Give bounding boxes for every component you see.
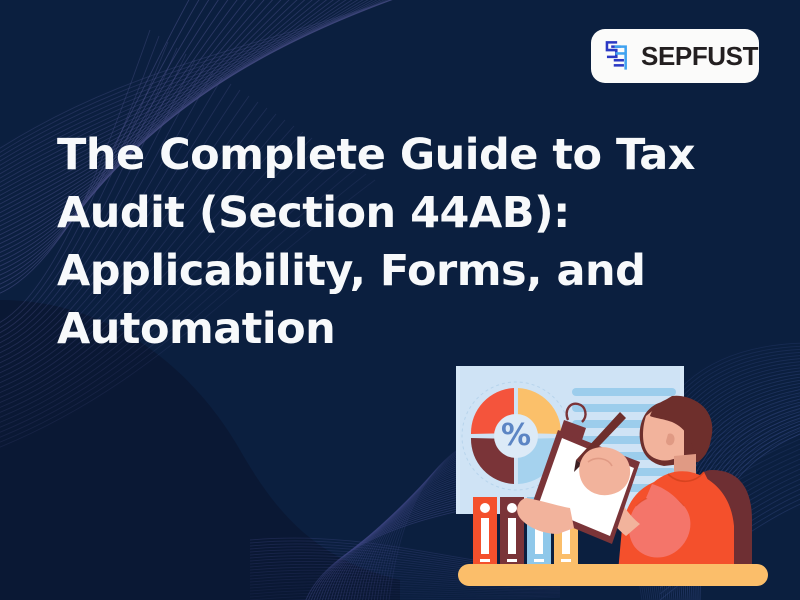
logo-badge[interactable]: SEPFUST bbox=[591, 29, 759, 83]
pie-center-label: % bbox=[501, 418, 531, 453]
sepfust-logo-mark-icon bbox=[603, 39, 633, 73]
banner-root: SEPFUST The Complete Guide to Tax Audit … bbox=[0, 0, 800, 600]
page-title: The Complete Guide to Tax Audit (Section… bbox=[57, 126, 717, 358]
desk-surface bbox=[458, 564, 768, 586]
logo-wordmark: SEPFUST bbox=[641, 43, 758, 69]
binder-red bbox=[473, 497, 497, 569]
tax-audit-illustration: % bbox=[440, 358, 800, 600]
